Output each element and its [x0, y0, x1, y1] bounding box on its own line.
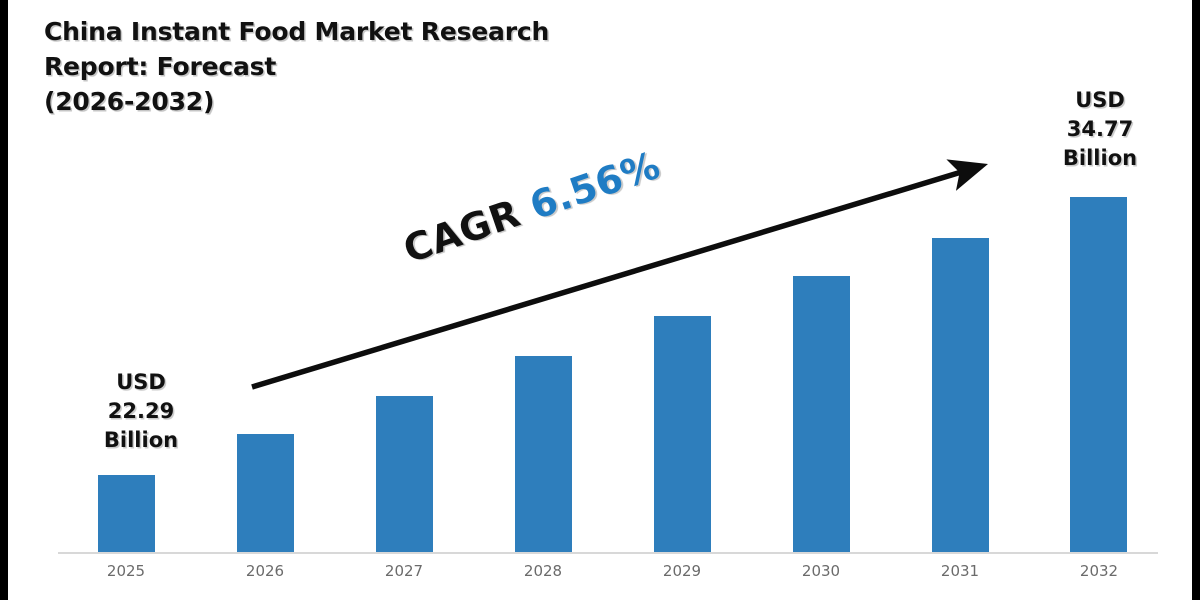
start-callout-amount: 22.29: [76, 397, 206, 426]
bar-2027: [376, 396, 433, 553]
end-callout-amount: 34.77: [1030, 115, 1170, 144]
bar-2032: [1070, 197, 1127, 553]
end-callout-currency: USD: [1030, 86, 1170, 115]
x-tick-2026: 2026: [215, 562, 315, 580]
bar-2030: [793, 276, 850, 553]
x-tick-2028: 2028: [493, 562, 593, 580]
end-value-callout: USD 34.77 Billion: [1030, 86, 1170, 173]
chart-canvas: China Instant Food Market Research Repor…: [0, 0, 1200, 600]
x-tick-2029: 2029: [632, 562, 732, 580]
cagr-label-value: 6.56%: [524, 143, 665, 228]
bar-2025: [98, 475, 155, 553]
bar-2029: [654, 316, 711, 553]
start-value-callout: USD 22.29 Billion: [76, 368, 206, 455]
start-callout-currency: USD: [76, 368, 206, 397]
x-tick-2032: 2032: [1049, 562, 1149, 580]
end-callout-unit: Billion: [1030, 144, 1170, 173]
cagr-annotation: CAGR 6.56%: [398, 143, 666, 272]
start-callout-unit: Billion: [76, 426, 206, 455]
x-tick-2031: 2031: [910, 562, 1010, 580]
plot-area: 2025 2026 2027 2028 2029 2030 2031 2032 …: [0, 0, 1200, 600]
x-tick-2030: 2030: [771, 562, 871, 580]
x-axis-line: [58, 552, 1158, 554]
bar-2028: [515, 356, 572, 553]
cagr-label-word: CAGR: [398, 191, 526, 272]
x-tick-2025: 2025: [76, 562, 176, 580]
bar-2031: [932, 238, 989, 553]
growth-arrow-icon: [0, 0, 1200, 600]
bar-2026: [237, 434, 294, 553]
x-tick-2027: 2027: [354, 562, 454, 580]
